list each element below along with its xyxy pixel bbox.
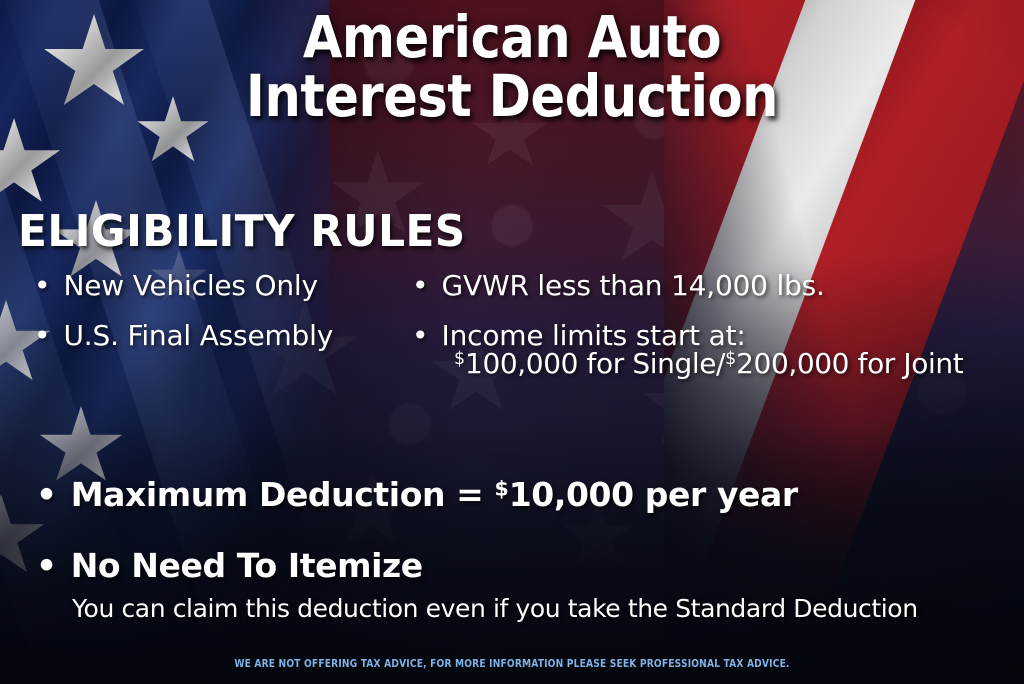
max-deduction-suffix: per year	[634, 475, 798, 514]
max-deduction-prefix: Maximum Deduction =	[71, 475, 495, 514]
dollar-sign-single: $	[454, 349, 465, 369]
eligibility-bullets: • New Vehicles Only • U.S. Final Assembl…	[0, 272, 1024, 422]
income-limit-joint-amount: 200,000	[736, 347, 849, 380]
income-limit-joint-label: for Joint	[849, 347, 963, 380]
income-limit-single-amount: 100,000	[465, 347, 578, 380]
dollar-sign-max: $	[495, 476, 509, 500]
list-item: • Income limits start at:	[412, 322, 1024, 350]
income-limit-single-label: for Single/	[578, 347, 725, 380]
list-item-label: U.S. Final Assembly	[64, 322, 334, 350]
bullet-dot-icon: •	[412, 322, 429, 350]
income-limit-amounts: $100,000 for Single/$200,000 for Joint	[454, 350, 1024, 378]
bullet-dot-icon: •	[36, 549, 57, 582]
poster-content: American Auto Interest Deduction ELIGIBI…	[0, 0, 1024, 684]
section-heading-eligibility: ELIGIBILITY RULES	[18, 206, 466, 257]
bullet-dot-icon: •	[412, 272, 429, 300]
list-item: • U.S. Final Assembly	[34, 322, 404, 350]
key-benefits-list: • Maximum Deduction = $10,000 per year •…	[0, 478, 1024, 582]
closing-note: You can claim this deduction even if you…	[72, 596, 918, 621]
list-item-label: Income limits start at:	[442, 322, 746, 350]
list-item: • New Vehicles Only	[34, 272, 404, 300]
poster-title: American Auto Interest Deduction	[61, 8, 962, 126]
list-item-label: New Vehicles Only	[64, 272, 318, 300]
bullet-dot-icon: •	[34, 322, 51, 350]
eligibility-column-left: • New Vehicles Only • U.S. Final Assembl…	[34, 272, 404, 372]
disclaimer-text: WE ARE NOT OFFERING TAX ADVICE, FOR MORE…	[41, 657, 983, 670]
no-itemize-label: No Need To Itemize	[71, 549, 423, 582]
max-deduction-amount: 10,000	[509, 475, 634, 514]
max-deduction-label: Maximum Deduction = $10,000 per year	[71, 478, 798, 511]
bullet-dot-icon: •	[36, 478, 57, 511]
list-item-max-deduction: • Maximum Deduction = $10,000 per year	[36, 478, 1024, 511]
list-item-label: GVWR less than 14,000 lbs.	[442, 272, 825, 300]
poster-title-line-1: American Auto	[61, 8, 962, 67]
bullet-dot-icon: •	[34, 272, 51, 300]
eligibility-column-right: • GVWR less than 14,000 lbs. • Income li…	[412, 272, 1024, 378]
poster-title-line-2: Interest Deduction	[61, 67, 962, 126]
list-item-no-itemize: • No Need To Itemize	[36, 549, 1024, 582]
list-item: • GVWR less than 14,000 lbs.	[412, 272, 1024, 300]
poster-canvas: American Auto Interest Deduction ELIGIBI…	[0, 0, 1024, 684]
dollar-sign-joint: $	[725, 349, 736, 369]
